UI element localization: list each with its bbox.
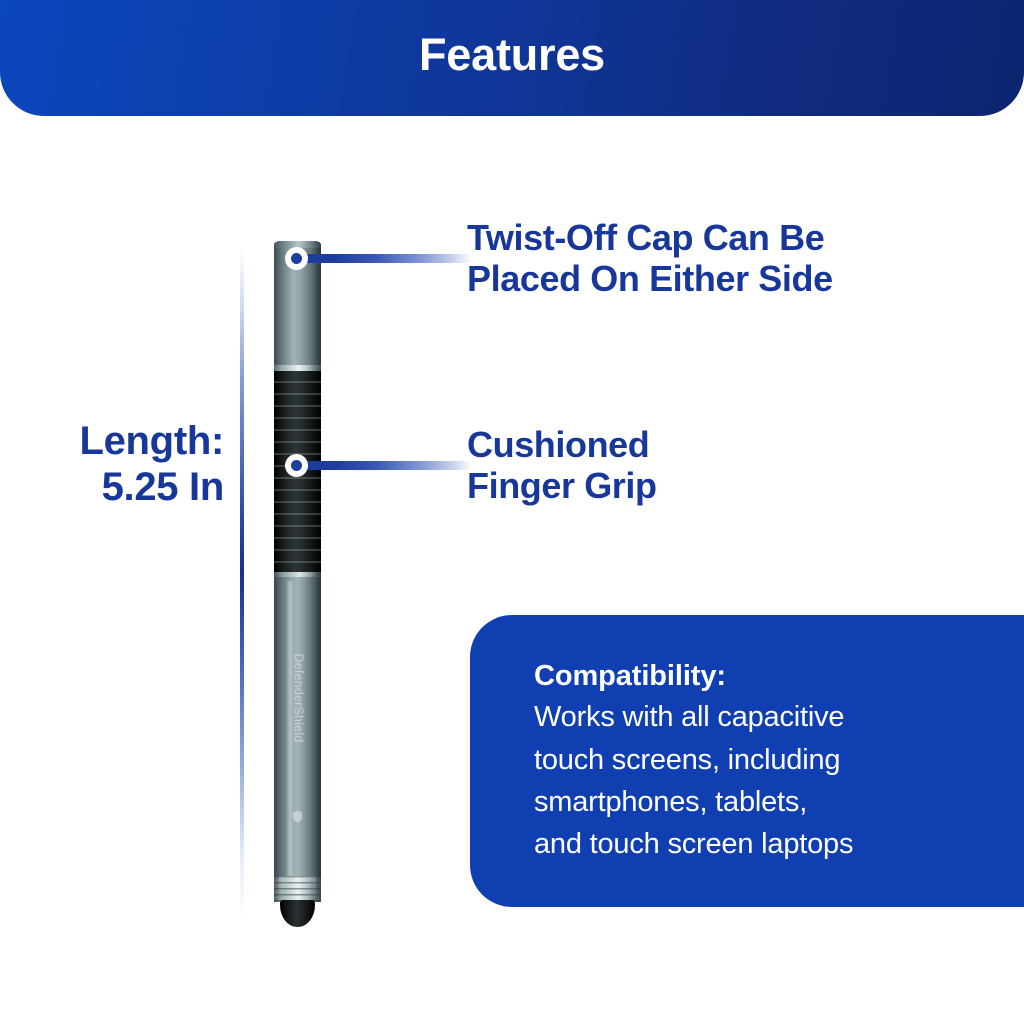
callout-leader-line-1 xyxy=(296,254,472,263)
pen-rubber-tip xyxy=(280,900,315,927)
feature-infographic: Features Length: 5.25 In DefenderShield … xyxy=(0,0,1024,1024)
callout-2-line-2: Finger Grip xyxy=(467,466,657,507)
brand-logo-icon xyxy=(292,810,303,823)
callout-text-twist-off-cap: Twist-Off Cap Can Be Placed On Either Si… xyxy=(467,218,833,299)
length-measurement-line xyxy=(240,248,244,924)
brand-label: DefenderShield xyxy=(292,641,306,756)
callout-leader-line-2 xyxy=(296,461,472,470)
length-label: Length: 5.25 In xyxy=(4,418,224,511)
compatibility-body-line-1: Works with all capacitive xyxy=(534,696,984,738)
length-label-line-1: Length: xyxy=(4,418,224,464)
callout-marker-icon-2 xyxy=(285,454,308,477)
compatibility-body: Works with all capacitive touch screens,… xyxy=(534,696,984,865)
callout-1-line-2: Placed On Either Side xyxy=(467,259,833,300)
compatibility-body-line-4: and touch screen laptops xyxy=(534,823,984,865)
pen-ferrule-highlight xyxy=(279,876,316,902)
callout-marker-icon-1 xyxy=(285,247,308,270)
length-label-line-2: 5.25 In xyxy=(4,464,224,510)
stylus-pen-image: DefenderShield xyxy=(274,241,321,927)
callout-1-line-1: Twist-Off Cap Can Be xyxy=(467,218,833,259)
compatibility-body-line-2: touch screens, including xyxy=(534,739,984,781)
page-title: Features xyxy=(0,32,1024,77)
compatibility-content: Compatibility: Works with all capacitive… xyxy=(534,657,984,866)
compatibility-body-line-3: smartphones, tablets, xyxy=(534,781,984,823)
callout-2-line-1: Cushioned xyxy=(467,425,657,466)
compatibility-heading: Compatibility: xyxy=(534,657,984,695)
callout-text-cushioned-grip: Cushioned Finger Grip xyxy=(467,425,657,506)
compatibility-panel: Compatibility: Works with all capacitive… xyxy=(470,615,1024,907)
